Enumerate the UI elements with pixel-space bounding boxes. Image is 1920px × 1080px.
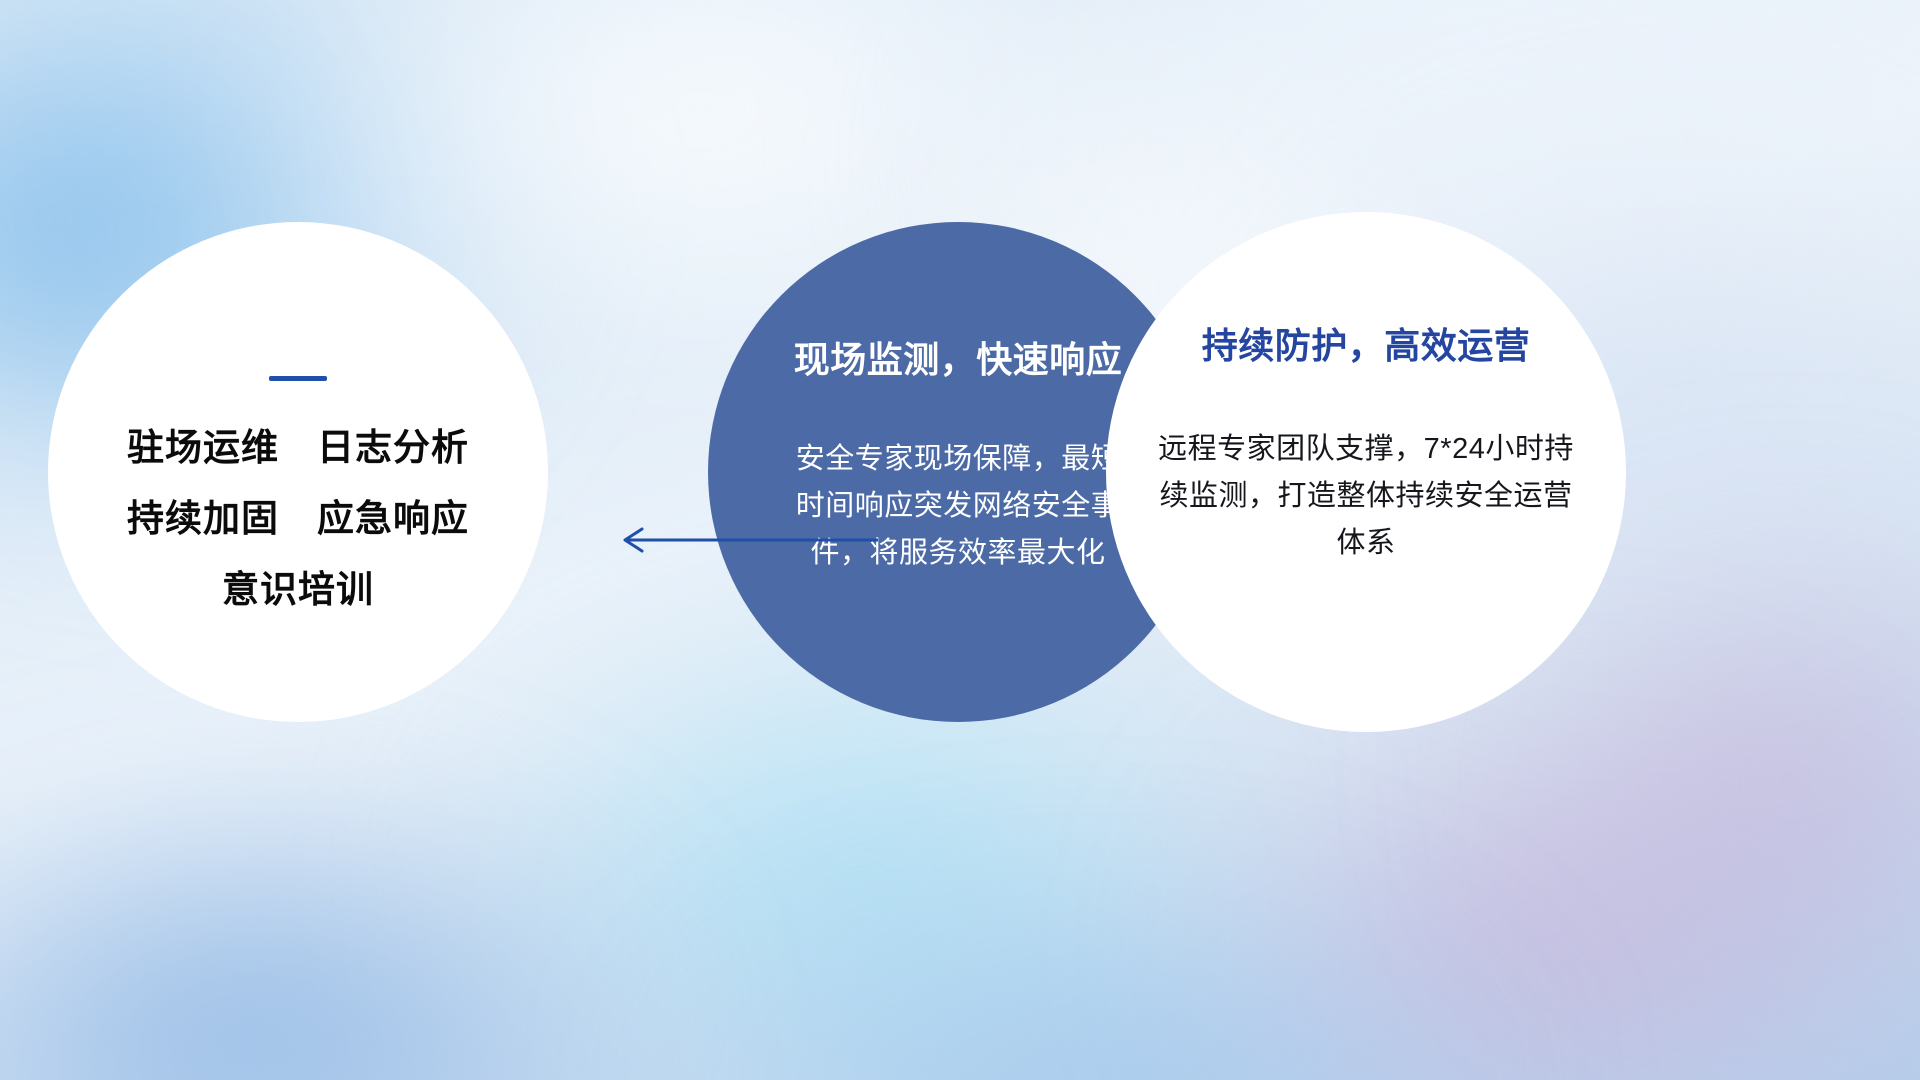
divider-dash-icon [269, 376, 327, 381]
capability-line-3: 意识培训 [127, 571, 469, 608]
service-circle-continuous[interactable]: 持续防护，高效运营 远程专家团队支撑，7*24小时持续监测，打造整体持续安全运营… [1106, 212, 1626, 732]
capability-circle-left[interactable]: 驻场运维 日志分析 持续加固 应急响应 意识培训 [48, 222, 548, 722]
capability-list: 驻场运维 日志分析 持续加固 应急响应 意识培训 [127, 429, 469, 608]
service-circle-continuous-body: 远程专家团队支撑，7*24小时持续监测，打造整体持续安全运营体系 [1156, 426, 1576, 567]
flow-arrow-left-icon [610, 520, 880, 560]
capability-line-2: 持续加固 应急响应 [127, 500, 469, 537]
service-circle-onsite-title: 现场监测，快速响应 [794, 342, 1123, 378]
service-circle-continuous-title: 持续防护，高效运营 [1202, 328, 1531, 364]
capability-line-1: 驻场运维 日志分析 [127, 429, 469, 466]
slide-canvas: 驻场运维 日志分析 持续加固 应急响应 意识培训 现场监测，快速响应 安全专家现… [0, 0, 1920, 1080]
